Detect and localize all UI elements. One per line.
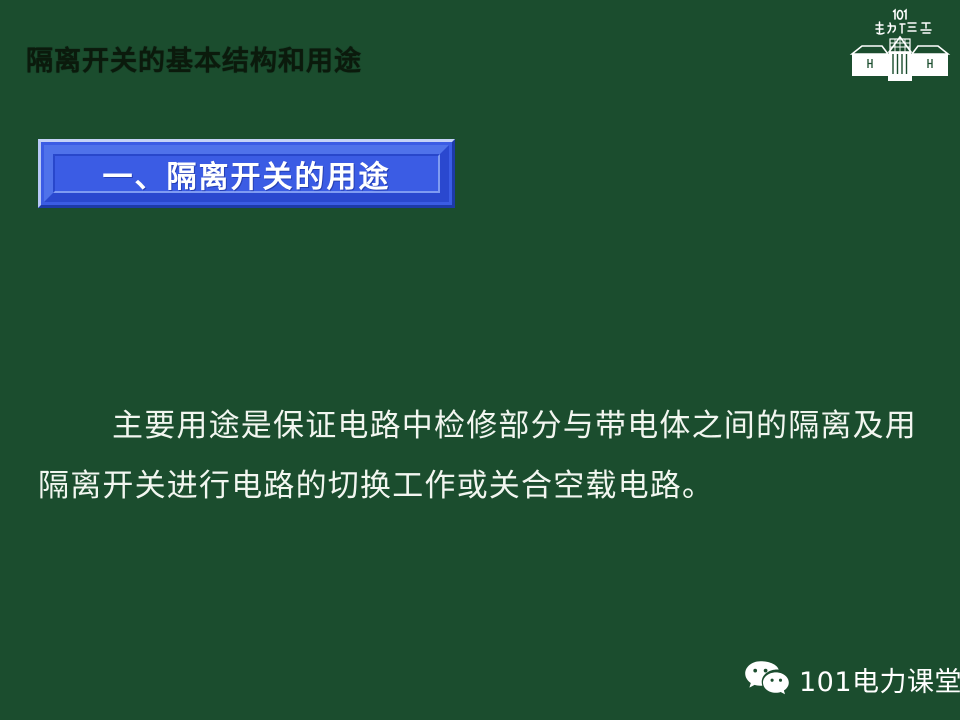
section-heading-box-inner: 一、隔离开关的用途 — [44, 145, 449, 202]
body-paragraph: 主要用途是保证电路中检修部分与带电体之间的隔离及用 隔离开关进行电路的切换工作或… — [38, 396, 922, 516]
slide-canvas: 隔离开关的基本结构和用途 一、隔离开关的用途 主要用途是保证电路中检修部分与带电… — [0, 0, 960, 720]
wechat-watermark: 101电力课堂 — [744, 657, 960, 701]
wechat-icon — [744, 659, 790, 699]
body-line: 隔离开关进行电路的切换工作或关合空载电路。 — [38, 456, 922, 516]
page-title: 隔离开关的基本结构和用途 — [26, 47, 362, 77]
section-heading-label: 一、隔离开关的用途 — [103, 152, 391, 196]
academy-building-logo — [846, 6, 954, 86]
body-line: 主要用途是保证电路中检修部分与带电体之间的隔离及用 — [38, 396, 922, 456]
section-heading-box: 一、隔离开关的用途 — [38, 139, 455, 208]
watermark-label: 101电力课堂 — [799, 660, 960, 699]
